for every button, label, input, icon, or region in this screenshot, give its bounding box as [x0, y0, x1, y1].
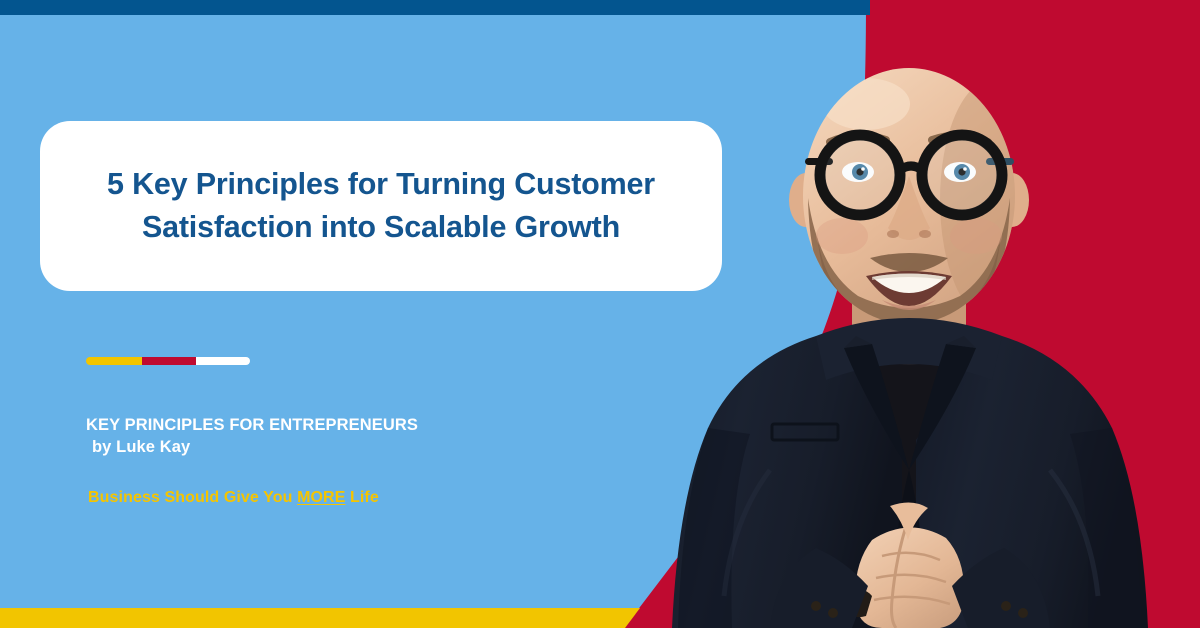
promo-banner: 5 Key Principles for Turning Customer Sa… — [0, 0, 1200, 628]
kicker-label: KEY PRINCIPLES FOR ENTREPRENEURS — [86, 414, 606, 436]
title-card: 5 Key Principles for Turning Customer Sa… — [40, 121, 722, 291]
tagline-before: Business Should Give You — [88, 489, 297, 506]
accent-divider-bar — [86, 357, 250, 365]
speaker-portrait — [620, 0, 1200, 628]
tagline: Business Should Give You MORE Life — [88, 489, 379, 507]
accent-segment-red — [142, 357, 196, 365]
tagline-emphasis: MORE — [297, 489, 345, 506]
author-byline: by Luke Kay — [86, 436, 606, 460]
tagline-after: Life — [345, 489, 378, 506]
credits-block: KEY PRINCIPLES FOR ENTREPRENEURS by Luke… — [86, 414, 606, 460]
accent-segment-white — [196, 357, 250, 365]
accent-segment-yellow — [86, 357, 142, 365]
page-title: 5 Key Principles for Turning Customer Sa… — [45, 163, 717, 250]
